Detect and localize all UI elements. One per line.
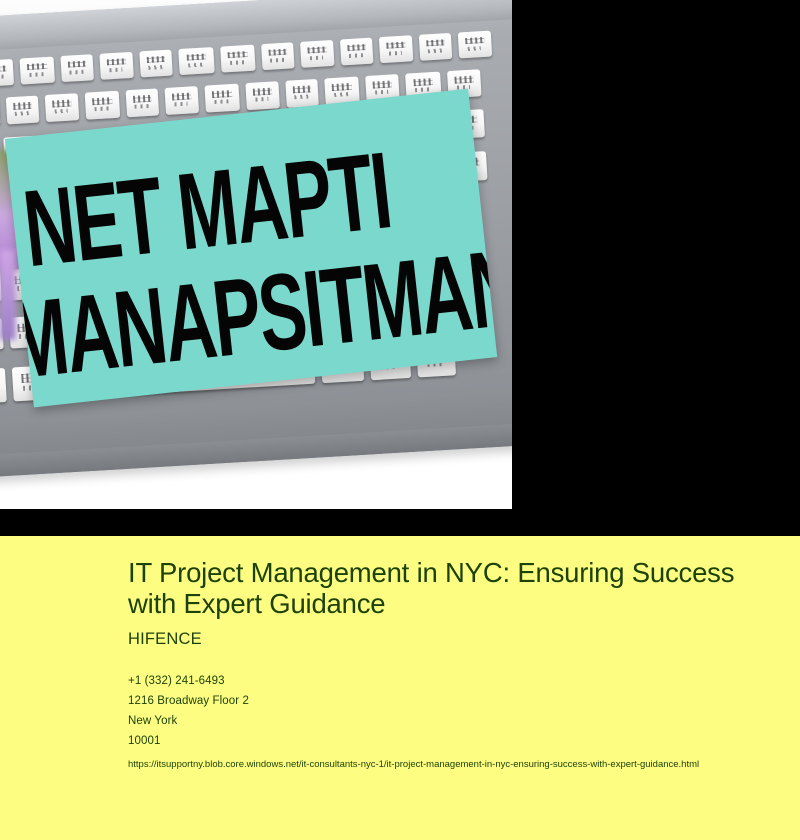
contact-block: +1 (332) 241-6493 1216 Broadway Floor 2 … bbox=[128, 671, 790, 751]
article-url[interactable]: https://itsupportny.blob.core.windows.ne… bbox=[128, 756, 790, 774]
keyboard-key bbox=[0, 59, 14, 87]
contact-street: 1216 Broadway Floor 2 bbox=[128, 691, 790, 711]
keyboard-key bbox=[45, 93, 80, 122]
keyboard-key bbox=[261, 42, 294, 70]
keyboard-key bbox=[245, 81, 280, 110]
info-card-content: IT Project Management in NYC: Ensuring S… bbox=[128, 558, 790, 774]
keyboard-key bbox=[204, 84, 240, 113]
keyboard-key-ctrl bbox=[0, 368, 7, 404]
keyboard-key bbox=[99, 52, 133, 80]
brand-name: HIFENCE bbox=[128, 630, 790, 649]
keyboard-key bbox=[20, 57, 55, 85]
black-right-area bbox=[512, 0, 800, 509]
keyboard-key bbox=[458, 31, 492, 59]
keyboard-key bbox=[285, 79, 319, 108]
keyboard-key bbox=[178, 47, 214, 75]
keyboard-key bbox=[85, 91, 121, 120]
keyboard-key bbox=[419, 33, 452, 61]
page-title: IT Project Management in NYC: Ensuring S… bbox=[128, 558, 748, 620]
keyboard-key bbox=[379, 35, 413, 63]
teal-placard: NET MAPTI MANAPSITMAN bbox=[5, 89, 497, 408]
keyboard-key bbox=[340, 38, 373, 66]
keyboard-key bbox=[60, 54, 93, 82]
contact-phone: +1 (332) 241-6493 bbox=[128, 671, 790, 691]
contact-zip: 10001 bbox=[128, 731, 790, 751]
hero-image: NET MAPTI MANAPSITMAN bbox=[0, 0, 512, 509]
keyboard-key bbox=[300, 40, 334, 68]
keyboard-key bbox=[126, 88, 160, 117]
info-card: IT Project Management in NYC: Ensuring S… bbox=[0, 536, 800, 840]
background-blur-left-lower bbox=[0, 250, 16, 340]
keyboard-key bbox=[139, 50, 172, 78]
keyboard-key bbox=[165, 86, 200, 115]
keyboard-key bbox=[220, 45, 255, 73]
black-divider-band bbox=[0, 509, 800, 536]
keyboard-key bbox=[6, 96, 40, 125]
page-root: NET MAPTI MANAPSITMAN IT Project Managem… bbox=[0, 0, 800, 840]
contact-city: New York bbox=[128, 711, 790, 731]
